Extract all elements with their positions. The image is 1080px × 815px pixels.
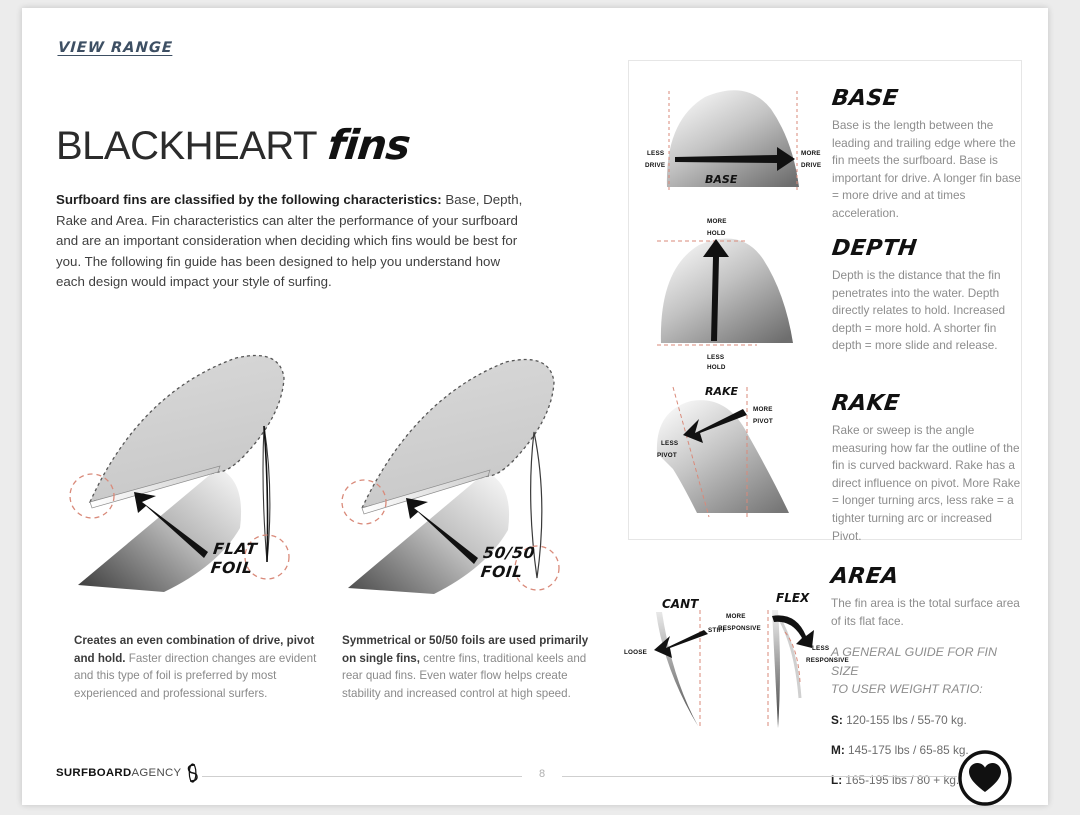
- feature-rake-title: RAKE: [830, 391, 1023, 416]
- fin-characteristics-panel: LESS DRIVE MORE DRIVE BASE BASE Base is …: [628, 60, 1022, 540]
- flex-label-less: LESS: [812, 645, 829, 652]
- diagram-rake: RAKE MORE PIVOT LESS PIVOT: [643, 381, 843, 531]
- base-label-more: MORE: [801, 150, 821, 157]
- feature-base: BASE Base is the length between the lead…: [832, 86, 1022, 223]
- feature-rake: RAKE Rake or sweep is the angle measurin…: [832, 391, 1022, 545]
- cant-label-loose: LOOSE: [624, 649, 647, 656]
- caption-flat-foil: Creates an even combination of drive, pi…: [74, 632, 319, 702]
- rake-label-pivot-left: PIVOT: [657, 452, 677, 459]
- flex-label-more: MORE: [726, 613, 746, 620]
- brand-word-blackheart: BLACKHEART: [56, 124, 317, 169]
- footer-brand-light: AGENCY: [131, 767, 181, 779]
- footer-brand-bold: SURFBOARD: [56, 767, 131, 779]
- fin-illustration-flat-foil: [68, 330, 348, 610]
- surfboard-monogram-icon: [184, 762, 202, 784]
- label-flat-foil-line1: FLAT: [212, 540, 258, 559]
- area-guide-line2: TO USER WEIGHT RATIO:: [831, 680, 1027, 699]
- view-range-link[interactable]: VIEW RANGE: [57, 40, 173, 56]
- area-size-guide-heading: A GENERAL GUIDE FOR FIN SIZE TO USER WEI…: [831, 643, 1027, 699]
- depth-label-hold-bottom: HOLD: [707, 364, 726, 371]
- base-axis-label: BASE: [705, 173, 738, 186]
- size-row-s: S: 120-155 lbs / 55-70 kg.: [831, 712, 1027, 729]
- footer-rule-left: [202, 776, 522, 777]
- page-sheet: VIEW RANGE BLACKHEART fins Surfboard fin…: [22, 8, 1048, 805]
- flex-label-responsive-left: RESPONSIVE: [718, 625, 761, 632]
- rake-axis-label: RAKE: [705, 385, 739, 398]
- diagram-depth: MORE HOLD LESS HOLD DEPTH: [643, 211, 828, 371]
- heart-icon[interactable]: [957, 750, 1013, 806]
- rake-label-pivot-right: PIVOT: [753, 418, 773, 425]
- page-number: 8: [527, 768, 557, 780]
- area-guide-line1: A GENERAL GUIDE FOR FIN SIZE: [831, 643, 1027, 680]
- brand-word-fins: fins: [325, 121, 412, 169]
- cant-title: CANT: [662, 597, 699, 611]
- flex-label-responsive-right: RESPONSIVE: [806, 657, 849, 664]
- feature-area-title: AREA: [829, 564, 1028, 589]
- caption-5050-foil: Symmetrical or 50/50 foils are used prim…: [342, 632, 592, 702]
- diagram-cant-flex: CANT LOOSE STIFF FLEX MORE RESPONSIVE LE…: [620, 586, 850, 746]
- label-flat-foil-line2: FOIL: [210, 559, 256, 578]
- diagram-base: LESS DRIVE MORE DRIVE BASE: [643, 75, 828, 205]
- base-label-less: LESS: [647, 150, 664, 157]
- feature-base-title: BASE: [830, 86, 1023, 111]
- depth-label-more: MORE: [707, 218, 727, 225]
- size-value-s: 120-155 lbs / 55-70 kg.: [843, 713, 967, 727]
- feature-area-body: The fin area is the total surface area o…: [831, 595, 1021, 630]
- feature-base-body: Base is the length between the leading a…: [832, 117, 1022, 223]
- feature-depth-title: DEPTH: [830, 236, 1023, 261]
- feature-rake-body: Rake or sweep is the angle measuring how…: [832, 422, 1022, 545]
- fin-illustration-5050-foil: [334, 330, 614, 610]
- label-5050-foil: 50/50 FOIL: [480, 544, 536, 582]
- label-flat-foil: FLAT FOIL: [210, 540, 259, 578]
- feature-depth: DEPTH Depth is the distance that the fin…: [832, 236, 1022, 355]
- intro-lead: Surfboard fins are classified by the fol…: [56, 192, 442, 207]
- flex-title: FLEX: [776, 591, 810, 605]
- base-label-drive-left: DRIVE: [645, 162, 665, 169]
- depth-label-hold-top: HOLD: [707, 230, 726, 237]
- intro-paragraph: Surfboard fins are classified by the fol…: [56, 190, 526, 293]
- page-footer: SURFBOARD AGENCY 8: [22, 748, 1048, 808]
- feature-depth-body: Depth is the distance that the fin penet…: [832, 267, 1022, 355]
- label-5050-foil-line1: 50/50: [482, 544, 536, 563]
- depth-label-less: LESS: [707, 354, 724, 361]
- rake-label-less: LESS: [661, 440, 678, 447]
- footer-brand: SURFBOARD AGENCY: [56, 762, 202, 784]
- page-title: BLACKHEART fins: [56, 121, 410, 169]
- rake-label-more: MORE: [753, 406, 773, 413]
- label-5050-foil-line2: FOIL: [480, 563, 534, 582]
- base-label-drive-right: DRIVE: [801, 162, 821, 169]
- footer-rule-right: [562, 776, 957, 777]
